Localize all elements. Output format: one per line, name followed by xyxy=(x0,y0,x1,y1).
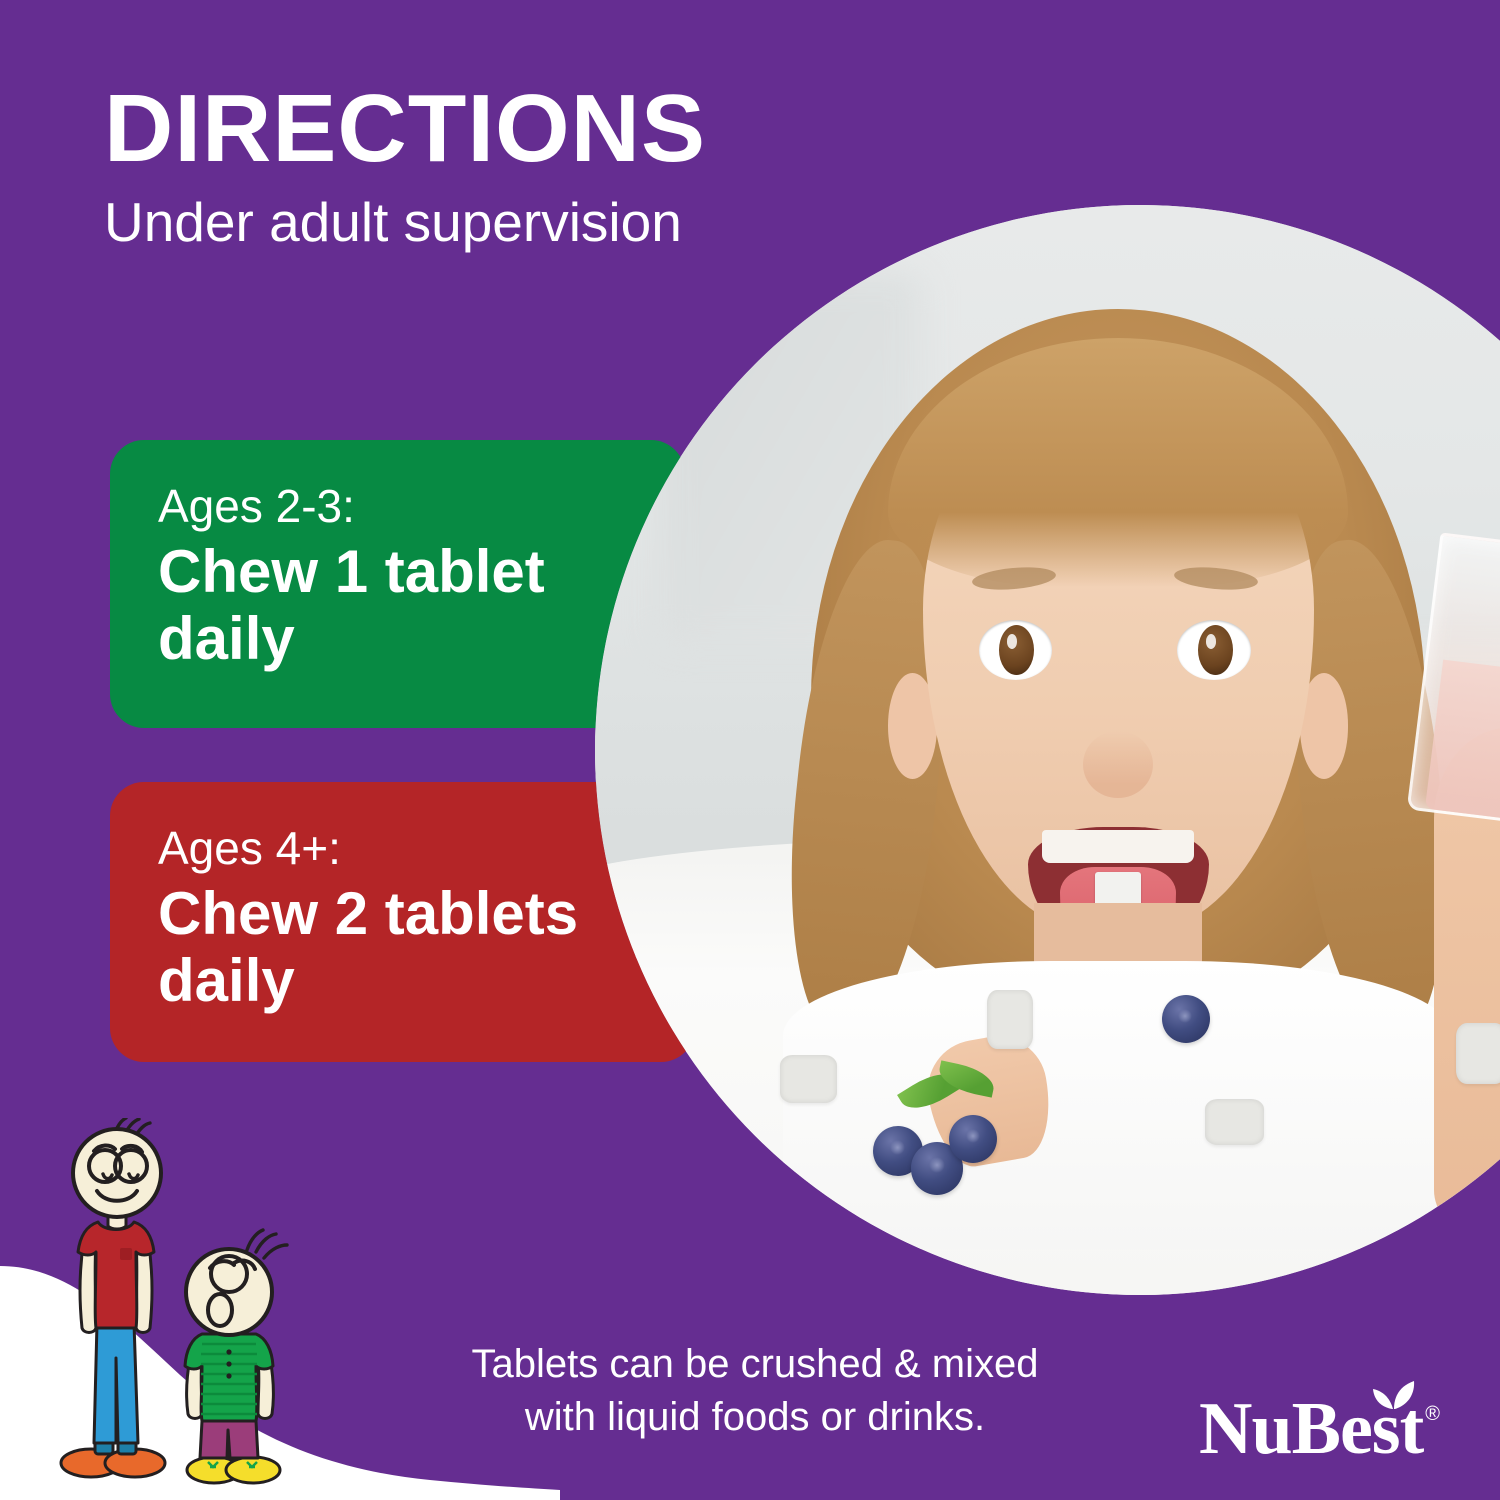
leaf-icon xyxy=(1372,1376,1418,1410)
eye-left xyxy=(979,620,1052,679)
dosage-card-ages-2-3: Ages 2-3: Chew 1 tablet daily xyxy=(110,440,670,728)
blueberry-single xyxy=(1162,995,1210,1043)
tall-child-figure xyxy=(61,1118,165,1477)
caption-line-1: Tablets can be crushed & mixed xyxy=(360,1338,1150,1391)
cartoon-children-illustration xyxy=(42,1118,342,1490)
footer-caption: Tablets can be crushed & mixed with liqu… xyxy=(360,1338,1150,1444)
animal-tablet-3 xyxy=(1205,1099,1264,1145)
dosage-dose-label: Chew 2 tablets daily xyxy=(158,880,588,1014)
infographic-canvas: DIRECTIONS Under adult supervision Ages … xyxy=(0,0,1500,1500)
page-title: DIRECTIONS xyxy=(104,80,864,178)
product-photo xyxy=(595,205,1500,1295)
brand-logo: NuBest ® xyxy=(1199,1392,1440,1466)
animal-tablet-1 xyxy=(780,1055,837,1103)
animal-tablet-4 xyxy=(1456,1023,1500,1084)
dosage-dose-label: Chew 1 tablet daily xyxy=(158,538,588,672)
dosage-card-ages-4-plus: Ages 4+: Chew 2 tablets daily xyxy=(110,782,680,1062)
headline-block: DIRECTIONS Under adult supervision xyxy=(104,80,864,252)
white-tshirt xyxy=(783,961,1453,1249)
animal-tablet-2 xyxy=(987,990,1033,1049)
page-subtitle: Under adult supervision xyxy=(104,192,864,253)
photo-scene xyxy=(595,205,1500,1295)
dosage-age-label: Ages 2-3: xyxy=(158,482,670,530)
caption-line-2: with liquid foods or drinks. xyxy=(360,1391,1150,1444)
eye-right xyxy=(1177,620,1250,679)
nose xyxy=(1083,731,1153,798)
blueberry-cluster-c xyxy=(949,1115,997,1163)
iris-left xyxy=(999,625,1034,675)
short-child-figure xyxy=(185,1230,287,1483)
teeth xyxy=(1042,830,1194,862)
iris-right xyxy=(1198,625,1233,675)
dosage-age-label: Ages 4+: xyxy=(158,824,680,872)
girl-figure xyxy=(769,270,1467,1229)
registered-mark: ® xyxy=(1425,1404,1440,1424)
